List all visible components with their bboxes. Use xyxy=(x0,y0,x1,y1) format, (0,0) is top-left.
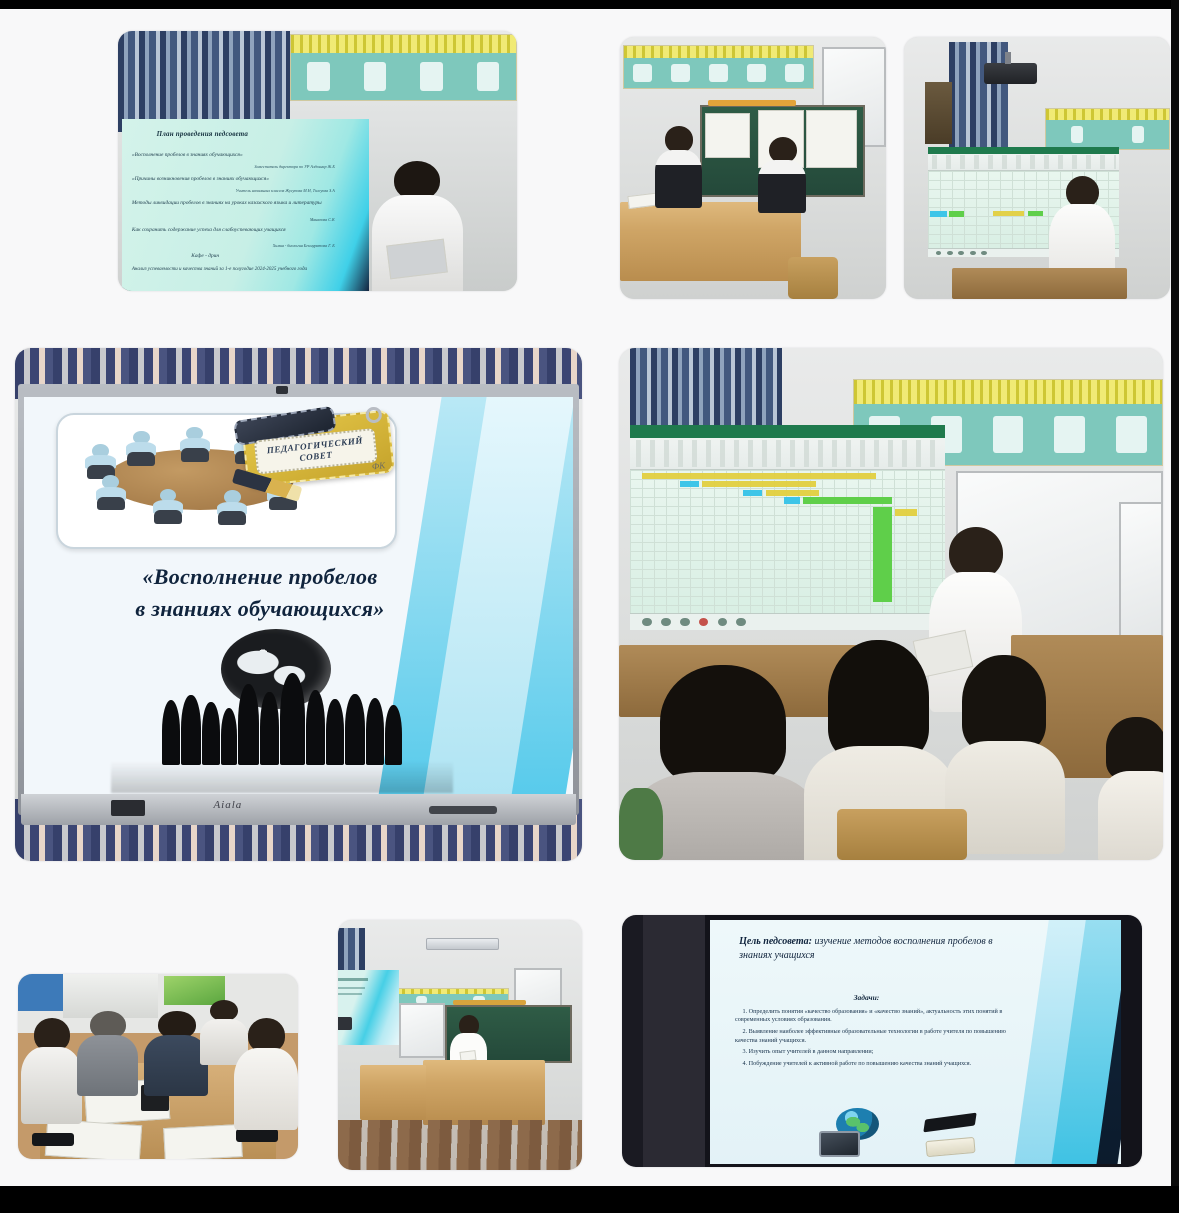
teacher-body xyxy=(758,160,806,213)
photo-scene-panel xyxy=(904,37,1170,299)
figure-8 xyxy=(217,490,247,524)
banner-icon-bus xyxy=(1116,416,1147,453)
slide-agenda: План проведения педсовета «Восполнение п… xyxy=(122,119,369,291)
spreadsheet-tabs[interactable] xyxy=(630,425,946,438)
slide-task-3: 3. Изучить опыт учителей в данном направ… xyxy=(735,1048,1023,1056)
teachers-desk xyxy=(620,202,801,281)
audience-head xyxy=(660,665,786,784)
spreadsheet-grid[interactable] xyxy=(630,470,946,613)
banner-icon-shield xyxy=(1132,126,1144,143)
column-highlight-green xyxy=(873,507,892,602)
spreadsheet-toolbar[interactable] xyxy=(636,440,939,467)
interactive-panel[interactable] xyxy=(630,425,946,630)
side-board xyxy=(1119,502,1163,645)
slide-agenda-title: План проведения педсовета xyxy=(157,130,249,138)
participant-body xyxy=(21,1047,83,1124)
photo-scene-audience xyxy=(619,348,1163,860)
phone-icon-2 xyxy=(236,1129,278,1142)
ceiling-lamp-icon xyxy=(426,938,499,951)
taskbar-icon-2[interactable] xyxy=(661,618,671,627)
slide-agenda-author-4: Химия - биология Бекмуратова Г. Б xyxy=(273,243,335,248)
photo-card-panel-spreadsheet[interactable] xyxy=(904,37,1170,299)
globe-computer-icon xyxy=(819,1108,886,1157)
banner-icon-tower xyxy=(420,62,443,90)
banner-ticks xyxy=(1046,109,1169,120)
projector-icon xyxy=(984,63,1037,84)
photo-scene-agenda: План проведения педсовета «Восполнение п… xyxy=(118,31,517,291)
projection-screen[interactable] xyxy=(338,970,399,1045)
row-highlight-yellow-2 xyxy=(702,481,816,487)
presenter-figure xyxy=(365,161,469,291)
banner-icon-flask xyxy=(671,64,690,82)
cell-highlight-yellow-4 xyxy=(895,509,917,516)
cell-highlight-yellow xyxy=(993,211,1024,216)
slide-decor-icons xyxy=(801,1103,998,1157)
panel-brand-label: Aiala xyxy=(213,799,242,811)
banner-icons xyxy=(1046,120,1169,149)
banner-icon-tower xyxy=(1054,416,1085,453)
photo-card-goals-slide[interactable]: Цель педсовета: изучение методов восполн… xyxy=(622,915,1142,1167)
audience-head xyxy=(828,640,929,760)
photo-card-speaker-at-desk[interactable] xyxy=(338,920,582,1170)
banner-icon-tower xyxy=(785,64,804,82)
slide-agenda-line-6: Анализ успеваемости и качества знаний за… xyxy=(132,267,340,274)
figure-chair xyxy=(181,448,209,462)
folder-watermark: ФК xyxy=(371,460,385,471)
teacher-figure-right xyxy=(758,137,806,210)
slide-task-2: 2. Выявление наиболее эффективные образо… xyxy=(735,1028,1023,1045)
photo-scene-speaker-at-desk xyxy=(338,920,582,1170)
slide-goal-heading: Цель педсовета: изучение методов восполн… xyxy=(739,935,1014,964)
banner-icon-leaf xyxy=(307,62,330,90)
slide-tasks-list: 1. Определить понятия «качество образова… xyxy=(735,1008,1023,1072)
board-chart-3 xyxy=(806,110,857,168)
slide-preview xyxy=(338,970,399,1045)
teacher-head xyxy=(665,126,693,153)
spreadsheet-taskbar[interactable] xyxy=(630,613,946,629)
taskbar-icon-3[interactable] xyxy=(958,251,964,255)
slide-tasks-title: Задачи: xyxy=(710,993,1022,1002)
spreadsheet-toolbar[interactable] xyxy=(932,155,1116,169)
wall-poster-blue xyxy=(18,974,63,1011)
figure-chair xyxy=(218,511,246,525)
figure-7 xyxy=(153,489,183,523)
slide-preview-line-1 xyxy=(338,978,368,981)
slide-agenda-line-1: «Восполнение пробелов в знаниях обучающи… xyxy=(132,152,340,158)
participant-body xyxy=(77,1035,139,1095)
silhouette-8 xyxy=(306,690,325,765)
participant-2 xyxy=(77,1011,139,1092)
banner-icon-shield xyxy=(364,62,387,90)
slide-preview-line-2 xyxy=(338,987,365,989)
table-paper-3 xyxy=(163,1124,243,1159)
graduation-icon xyxy=(921,1114,980,1157)
monitor-icon xyxy=(819,1131,861,1157)
wall-banner xyxy=(290,34,517,102)
cell-highlight-green xyxy=(949,211,964,216)
silhouette-3 xyxy=(202,702,220,764)
banner-ticks xyxy=(854,380,1162,404)
slide-title: ПЕДАГОГИЧЕСКИЙ СОВЕТ ФК «Восполнение про… xyxy=(24,397,574,797)
silhouette-10 xyxy=(345,694,365,765)
silhouette-9 xyxy=(326,699,344,765)
slide-task-1: 1. Определить понятия «качество образова… xyxy=(735,1008,1023,1025)
wall-banner xyxy=(623,45,815,90)
figure-chair xyxy=(154,510,182,524)
cell-highlight-cyan xyxy=(930,211,947,216)
desk xyxy=(952,268,1128,299)
photo-card-teachers-at-board[interactable] xyxy=(620,37,886,299)
graduation-cap-icon xyxy=(923,1112,976,1132)
taskbar-icon-1[interactable] xyxy=(936,251,942,255)
chair xyxy=(788,257,839,299)
slide-agenda-line-5: Кафе - дрин xyxy=(191,253,339,259)
silhouette-1 xyxy=(162,700,180,764)
teacher-head xyxy=(769,137,797,163)
participant-body xyxy=(234,1048,298,1130)
photo-scene-goals-slide: Цель педсовета: изучение методов восполн… xyxy=(622,915,1142,1167)
slide-goals: Цель педсовета: изучение методов восполн… xyxy=(710,920,1121,1164)
photo-card-title-slide[interactable]: ПЕДАГОГИЧЕСКИЙ СОВЕТ ФК «Восполнение про… xyxy=(15,348,582,861)
silhouette-6 xyxy=(260,692,278,765)
participant-1 xyxy=(21,1018,83,1122)
cell-highlight-cyan-1 xyxy=(680,481,699,487)
wall-banner xyxy=(1045,108,1170,150)
banner-icon-atom xyxy=(747,64,766,82)
phone-icon xyxy=(32,1133,74,1146)
projection-screen[interactable]: План проведения педсовета «Восполнение п… xyxy=(122,119,369,291)
silhouette-5 xyxy=(238,684,259,765)
letterbox-right xyxy=(1171,0,1179,1213)
plant-icon xyxy=(619,788,663,860)
collage-page: План проведения педсовета «Восполнение п… xyxy=(0,0,1179,1213)
folder-illustration: ПЕДАГОГИЧЕСКИЙ СОВЕТ ФК xyxy=(241,410,395,489)
slide-agenda-author-3: Манапова С.К xyxy=(310,217,335,222)
silhouette-7 xyxy=(280,673,305,765)
spreadsheet-ribbon[interactable] xyxy=(630,425,946,470)
board-top-rail xyxy=(453,1000,526,1005)
banner-icons xyxy=(291,53,516,100)
crowd-reflection xyxy=(111,761,452,793)
taskbar-icon-1[interactable] xyxy=(642,618,652,627)
slide-agenda-line-3: Методы ликвидации пробелов в знаниях на … xyxy=(132,200,340,207)
diploma-scroll-icon xyxy=(925,1137,975,1157)
silhouette-2 xyxy=(181,695,201,765)
panel-controls[interactable] xyxy=(111,800,145,815)
taskbar-icon-5[interactable] xyxy=(718,618,728,627)
photo-card-audience[interactable] xyxy=(619,348,1163,860)
taskbar-icon-4[interactable] xyxy=(699,618,709,627)
photo-scene-title-slide: ПЕДАГОГИЧЕСКИЙ СОВЕТ ФК «Восполнение про… xyxy=(15,348,582,861)
crowd-silhouette xyxy=(111,661,452,765)
bookshelf xyxy=(925,82,952,145)
figure-1 xyxy=(85,444,115,478)
silhouette-11 xyxy=(366,698,384,765)
audience-head xyxy=(962,655,1046,752)
slide-agenda-author-1: Заместитель директора по УР Алдонгар Ж.Б xyxy=(254,164,334,169)
audience-body xyxy=(1098,771,1163,860)
figure-chair xyxy=(127,452,155,466)
side-desk xyxy=(360,1065,426,1120)
photo-card-agenda-slide[interactable]: План проведения педсовета «Восполнение п… xyxy=(118,31,517,291)
taskbar-icon-3[interactable] xyxy=(680,618,690,627)
participant-body xyxy=(144,1035,208,1095)
participant-3 xyxy=(144,1011,208,1092)
window-blinds-icon xyxy=(949,42,1008,157)
photo-scene-board xyxy=(620,37,886,299)
slide-task-4: 4. Побуждение учителей к активной работе… xyxy=(735,1060,1023,1068)
figure-chair xyxy=(97,497,125,511)
banner-ticks xyxy=(291,35,516,53)
taskbar-icon-2[interactable] xyxy=(947,251,953,255)
audience-member-4 xyxy=(1098,717,1163,860)
row-highlight-yellow-3 xyxy=(766,490,820,496)
banner-icon-leaf xyxy=(1071,126,1083,143)
projection-screen[interactable]: Цель педсовета: изучение методов восполн… xyxy=(710,920,1121,1164)
interactive-panel-screen[interactable]: ПЕДАГОГИЧЕСКИЙ СОВЕТ ФК «Восполнение про… xyxy=(24,397,574,797)
banner-icon-bulb xyxy=(993,416,1024,453)
board-chart-1 xyxy=(705,113,750,158)
row-highlight-yellow xyxy=(642,473,875,479)
figure-2 xyxy=(126,431,156,465)
slide-preview-line-3 xyxy=(338,993,362,995)
slide-main-title-line1: «Восполнение пробелов xyxy=(56,561,463,593)
folder-label-line2: СОВЕТ xyxy=(299,450,333,465)
slide-preview-icon xyxy=(338,1017,352,1031)
slide-agenda-line-4: Как сохранить содержание успеха для слаб… xyxy=(132,227,340,234)
photo-card-group-work[interactable] xyxy=(18,974,298,1159)
roundtable-illustration: ПЕДАГОГИЧЕСКИЙ СОВЕТ ФК xyxy=(56,413,397,549)
slide-goal-label: Цель педсовета: xyxy=(739,936,812,947)
spreadsheet-tabs[interactable] xyxy=(928,147,1120,154)
folder-ring-icon xyxy=(364,407,381,424)
taskbar-icon-4[interactable] xyxy=(970,251,976,255)
silhouette-12 xyxy=(385,705,402,765)
slide-agenda-author-2: Учитель начальных классов Жусупова М.Н, … xyxy=(236,188,335,193)
slide-agenda-line-2: «Причины возникновения пробелов в знания… xyxy=(132,176,340,182)
board-top-rail xyxy=(708,100,796,107)
row-highlight-green xyxy=(803,497,891,503)
collage-canvas: План проведения педсовета «Восполнение п… xyxy=(0,9,1171,1186)
figure-3 xyxy=(180,427,210,461)
figure-6 xyxy=(96,475,126,509)
banner-icon-plant xyxy=(477,62,500,90)
teacher-body xyxy=(655,150,703,208)
letterbox-top xyxy=(0,0,1179,9)
wooden-floor xyxy=(338,1120,582,1170)
panel-camera-icon xyxy=(276,386,288,394)
panel-speaker-grille xyxy=(429,806,497,814)
presenter-papers xyxy=(386,238,448,279)
taskbar-icon-5[interactable] xyxy=(981,251,987,255)
slide-main-title: «Восполнение пробелов в знаниях обучающи… xyxy=(56,561,463,625)
teacher-figure-left xyxy=(655,126,703,205)
slide-main-title-line2: в знаниях обучающихся» xyxy=(56,593,463,625)
spreadsheet-app[interactable] xyxy=(630,425,946,630)
spreadsheet-ribbon[interactable] xyxy=(928,147,1120,171)
cell-highlight-green-2 xyxy=(1028,211,1043,216)
whiteboard xyxy=(399,1003,445,1058)
teachers-desk xyxy=(423,1060,545,1125)
cell-highlight-cyan-2 xyxy=(743,490,762,496)
banner-icons xyxy=(624,58,814,89)
banner-icon-bulb xyxy=(633,64,652,82)
silhouette-4 xyxy=(221,708,237,765)
photo-scene-group-work xyxy=(18,974,298,1159)
taskbar-icon-6[interactable] xyxy=(736,618,746,627)
banner-icon-book xyxy=(709,64,728,82)
window-blinds-icon xyxy=(118,31,290,132)
chair xyxy=(837,809,968,860)
cell-highlight-cyan-3 xyxy=(784,497,800,503)
letterbox-bottom xyxy=(0,1186,1179,1213)
banner-ticks xyxy=(624,46,814,58)
participant-5 xyxy=(234,1018,298,1125)
